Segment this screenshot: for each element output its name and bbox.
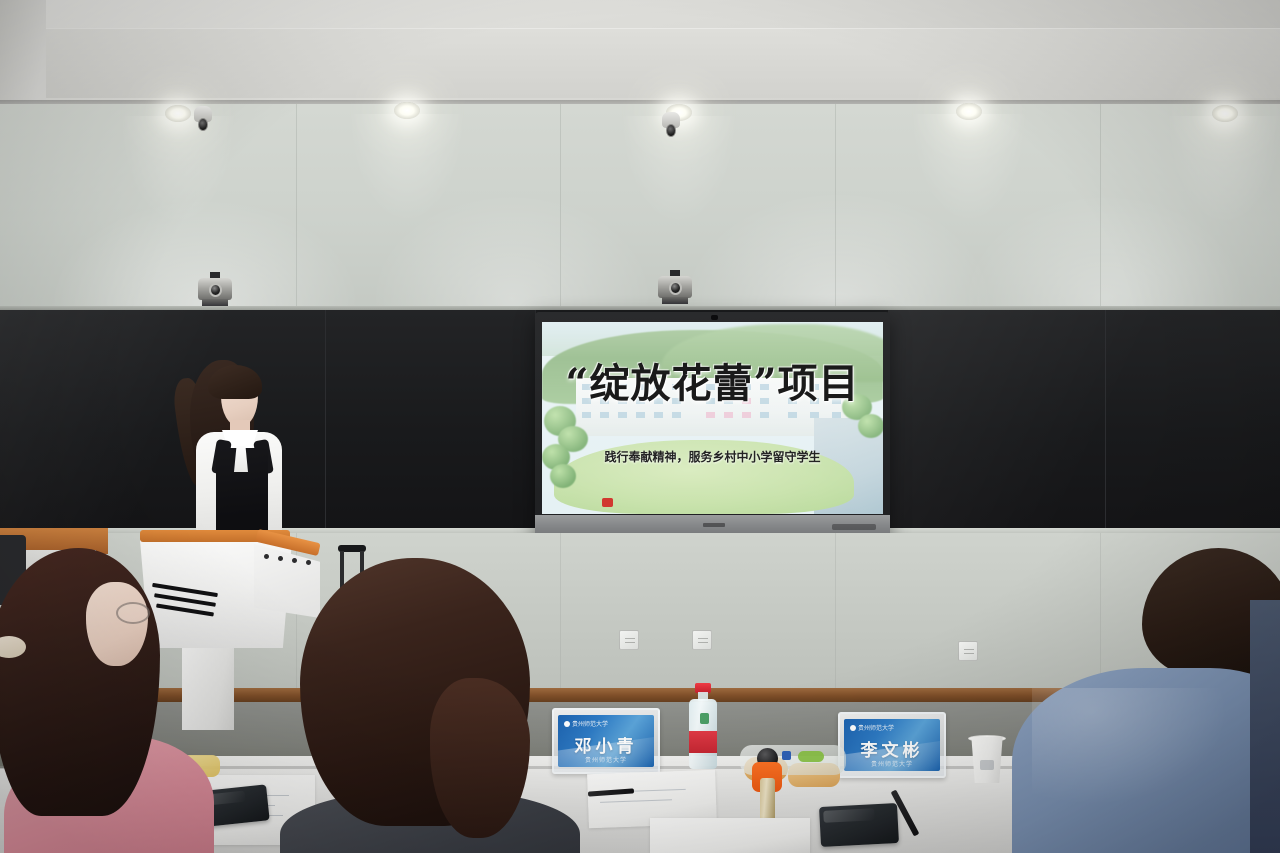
wall-plate-1[interactable]: [619, 630, 639, 650]
ceiling-camera-left: [193, 106, 213, 136]
display-brand-logo: [703, 523, 725, 527]
display-buttons[interactable]: [832, 524, 876, 530]
audience-far-right-edge: [1250, 600, 1280, 853]
audience-left-glasses: [116, 602, 150, 624]
wall-plate-3[interactable]: [958, 641, 978, 661]
presenter-hair-top: [208, 365, 262, 399]
nameplate-li-wenbin: 贵州师范大学 李文彬 贵州师范大学: [838, 712, 946, 778]
light-cone: [889, 114, 1049, 304]
bottle-green-mark: [700, 713, 709, 724]
audience-left: [0, 548, 220, 853]
downlight-2: [394, 102, 420, 119]
display-camera-icon: [711, 315, 718, 320]
paper-cup-print: [980, 760, 994, 770]
blackboard-panel: [326, 310, 536, 532]
light-cone: [1145, 116, 1280, 306]
paper-sheet[interactable]: [650, 818, 810, 853]
wall-seam: [296, 104, 297, 312]
slide-subtitle: 践行奉献精神，服务乡村中小学留守学生: [542, 448, 883, 465]
slide-white-overlay: [542, 322, 883, 514]
light-cone: [98, 116, 258, 306]
ceiling-camera-center: [661, 112, 681, 142]
wall-plate-2[interactable]: [692, 630, 712, 650]
nameplate-subtext: 贵州师范大学: [844, 759, 940, 768]
upper-wall: [0, 104, 1280, 312]
downlight-1: [165, 105, 191, 122]
water-bottle[interactable]: [688, 683, 718, 780]
audience-right: [1012, 548, 1280, 853]
audience-right-shoulder-highlight: [1032, 688, 1232, 808]
nameplate-name: 李文彬: [844, 736, 940, 761]
wall-ptz-camera-left: [198, 272, 232, 306]
slide-title: “绽放花蕾”项目: [542, 364, 883, 404]
nameplate-org: 贵州师范大学: [858, 725, 894, 732]
downlight-5: [1212, 105, 1238, 122]
slide-logo-icon: [602, 498, 613, 507]
classroom-photo-scene: “绽放花蕾”项目 践行奉献精神，服务乡村中小学留守学生: [0, 0, 1280, 853]
wall-seam: [1100, 104, 1101, 312]
interactive-smart-display[interactable]: “绽放花蕾”项目 践行奉献精神，服务乡村中小学留守学生: [535, 312, 890, 540]
ceiling: [0, 0, 1280, 108]
smartphone-right[interactable]: [819, 803, 899, 847]
lectern-control-button[interactable]: [264, 554, 269, 559]
bottle-label: [689, 731, 717, 753]
ceiling-recess-panel: [38, 28, 1280, 98]
downlight-4: [956, 103, 982, 120]
wall-seam: [835, 533, 836, 698]
wall-ptz-camera-center: [658, 270, 692, 304]
audience-center: [280, 558, 580, 853]
display-screen[interactable]: “绽放花蕾”项目 践行奉献精神，服务乡村中小学留守学生: [542, 322, 883, 514]
wall-seam: [560, 104, 561, 312]
wall-seam: [835, 104, 836, 312]
blackboard-sheen: [888, 310, 1280, 532]
light-cone: [327, 114, 487, 304]
